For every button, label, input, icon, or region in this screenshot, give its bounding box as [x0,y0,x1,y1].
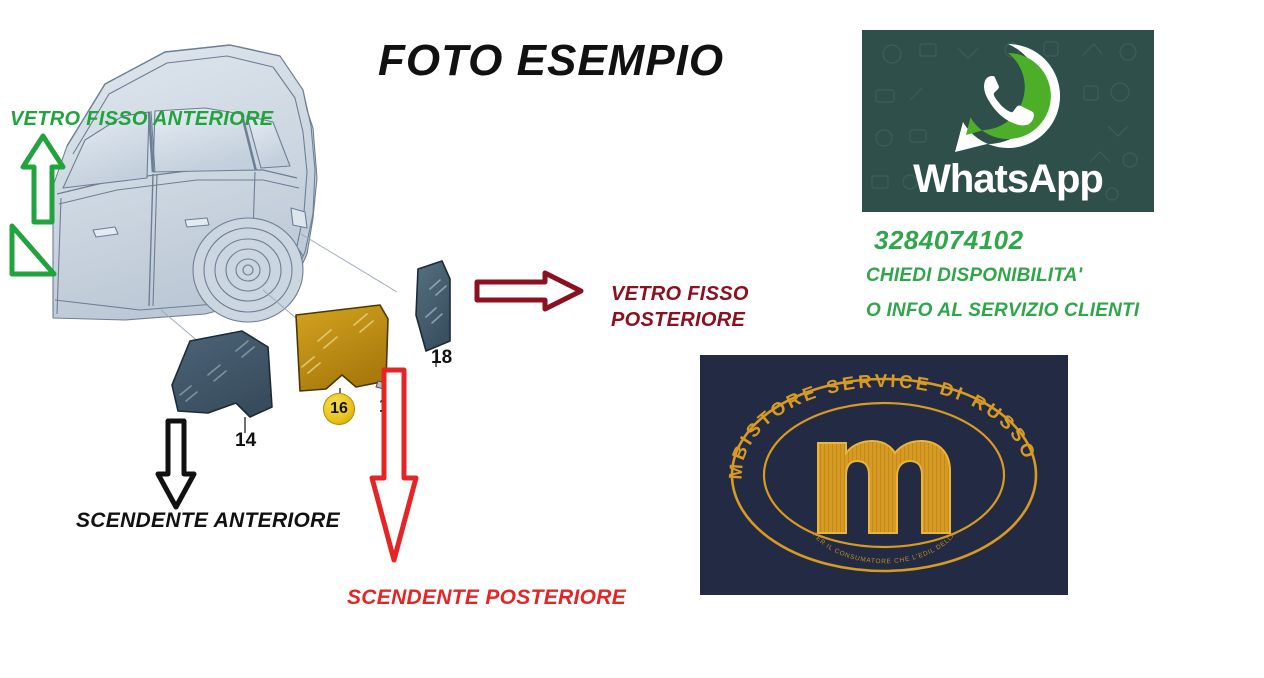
green-up-arrow-icon [20,133,66,225]
whatsapp-wordmark: WhatsApp [862,157,1154,202]
red-down-arrow-icon [368,366,420,564]
label-scendente-posteriore: SCENDENTE POSTERIORE [347,586,626,610]
label-vetro-fisso-anteriore: VETRO FISSO ANTERIORE [10,108,273,131]
shop-logo: MRICAMBISTORE SERVICE DI RUSSO MARCO AL … [700,355,1068,595]
black-down-arrow-icon [155,418,197,510]
label-vetro-fisso-posteriore: VETRO FISSO POSTERIORE [611,281,749,333]
label-vetro-fisso-posteriore-line2: POSTERIORE [611,307,749,333]
part-badge-16-label: 16 [330,400,348,418]
page-title: FOTO ESEMPIO [378,36,798,86]
part-number-18: 18 [431,347,452,369]
whatsapp-icon [947,38,1069,160]
part-number-badge-16: 16 [323,393,355,425]
whatsapp-banner: WhatsApp [862,30,1154,212]
part-number-14: 14 [235,430,256,452]
label-scendente-anteriore: SCENDENTE ANTERIORE [76,509,340,533]
contact-line-1: CHIEDI DISPONIBILITA' [866,265,1082,287]
dark-red-right-arrow-icon [473,270,585,312]
green-triangle-icon [8,222,58,278]
contact-line-2: O INFO AL SERVIZIO CLIENTI [866,300,1139,322]
contact-phone-number[interactable]: 3284074102 [874,225,1024,256]
shop-logo-monogram [818,441,950,533]
label-vetro-fisso-posteriore-line1: VETRO FISSO [611,281,749,307]
